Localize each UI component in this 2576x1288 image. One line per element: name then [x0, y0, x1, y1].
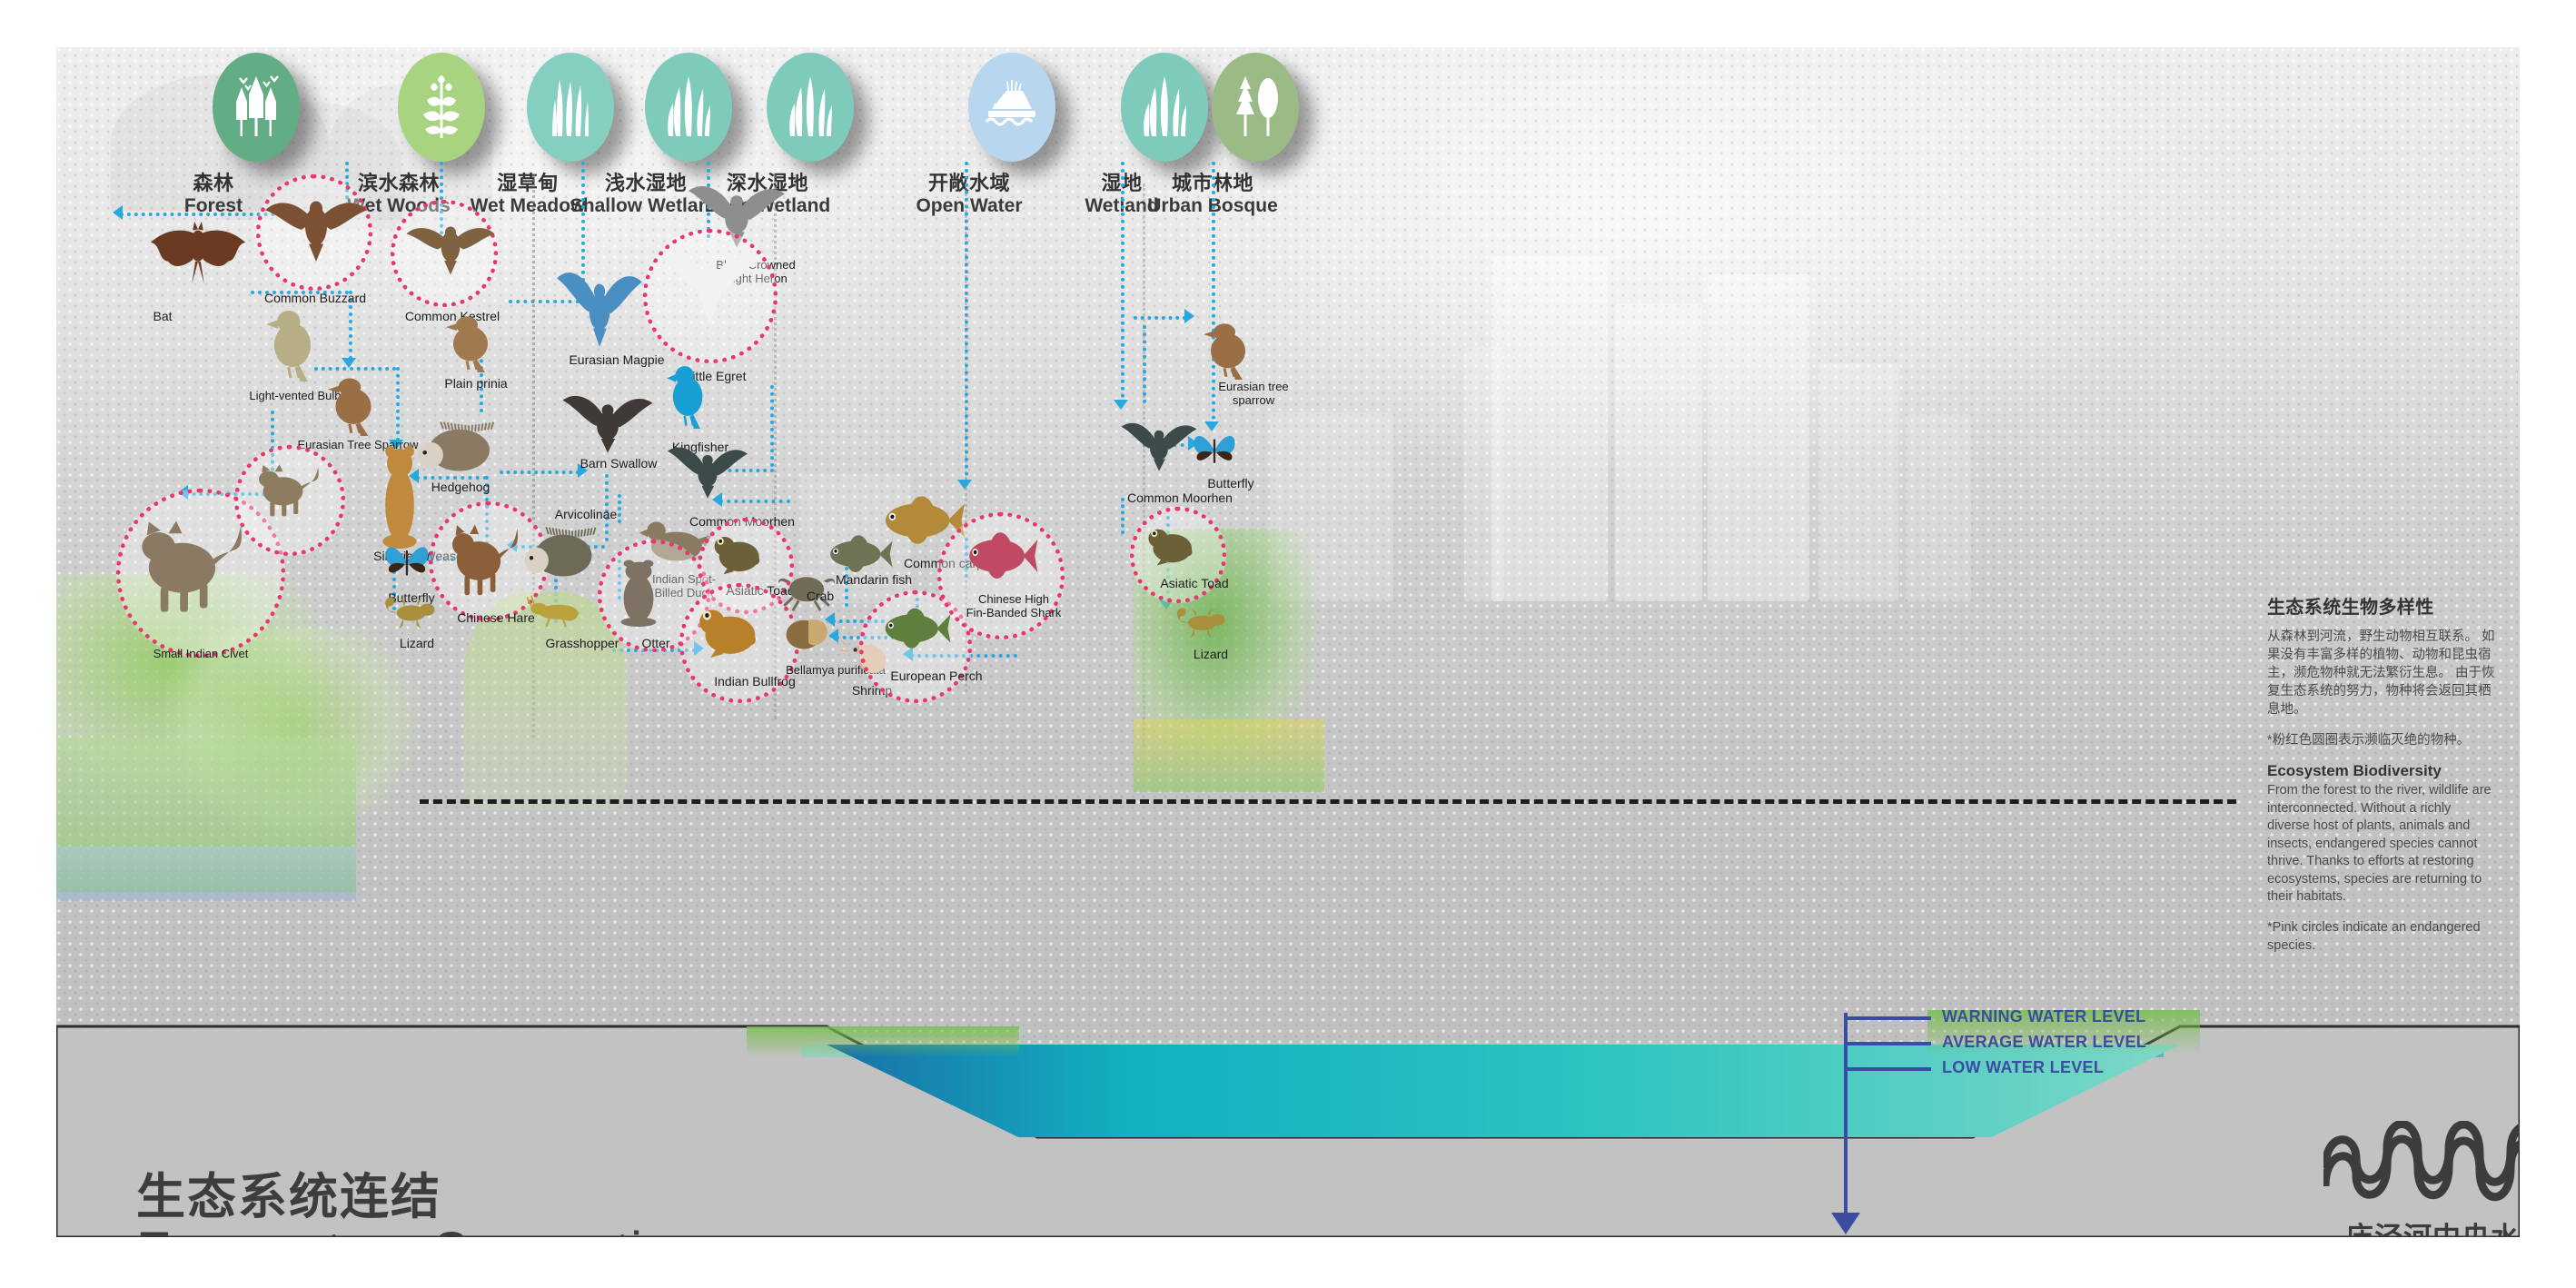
zone-icon-deep-wetland[interactable]	[767, 53, 854, 162]
title-en: Eco-system Connections	[136, 1224, 728, 1237]
water-level-legend: WARNING WATER LEVELAVERAGE WATER LEVELLO…	[1844, 1007, 2144, 1084]
species-label-small-indian-civet: Small Indian Civet	[105, 647, 296, 660]
species-image-chinese-high-fin-banded-shark[interactable]	[959, 529, 1039, 583]
species-label-bat: Bat	[94, 309, 231, 323]
species-image-hedgehog[interactable]	[416, 421, 496, 474]
species-image-bat[interactable]	[145, 220, 251, 298]
cn-body: 从森林到河流，野生动物相互联系。 如果没有丰富多样的植物、动物和昆虫宿主，濒危物…	[2267, 628, 2496, 718]
water-level-bar	[1844, 1016, 1931, 1020]
species-image-grasshopper[interactable]	[527, 594, 587, 627]
species-image-eurasian-magpie[interactable]	[552, 256, 647, 349]
water-level-row: LOW WATER LEVEL	[1844, 1058, 2144, 1084]
zone-icon-wet-woods[interactable]	[398, 53, 485, 162]
species-image-small-indian-civet-inset[interactable]	[249, 460, 325, 520]
species-image-little-egret[interactable]	[656, 236, 763, 325]
water-level-bar	[1844, 1067, 1931, 1071]
forest-trees-icon	[229, 71, 283, 144]
species-image-asiatic-toad-center[interactable]	[708, 529, 768, 576]
species-label-eurasian-tree-sparrow-right: Eurasian tree sparrow	[1190, 380, 1317, 407]
species-image-chinese-hare[interactable]	[441, 518, 525, 599]
species-image-butterfly-left[interactable]	[381, 538, 432, 585]
en-note: *Pink circles indicate an endangered spe…	[2267, 919, 2496, 955]
wet-woods-plant-icon	[414, 69, 469, 146]
species-image-bellamya-purificata[interactable]	[783, 612, 834, 652]
species-image-plain-prinia[interactable]	[440, 311, 503, 372]
species-image-light-vented-bulbul[interactable]	[260, 303, 327, 381]
species-image-butterfly-right[interactable]	[1190, 427, 1239, 472]
wave-logo-icon	[2323, 1121, 2520, 1208]
species-image-common-buzzard[interactable]	[262, 183, 371, 263]
species-image-common-moorhen-right[interactable]	[1117, 412, 1201, 472]
en-heading: Ecosystem Biodiversity	[2267, 762, 2496, 780]
species-image-asiatic-toad-right[interactable]	[1143, 521, 1201, 567]
species-label-chinese-high-fin-banded-shark: Chinese High Fin-Banded Shark	[932, 592, 1095, 619]
species-image-small-indian-civet[interactable]	[125, 512, 253, 618]
title-cn: 生态系统连结	[136, 1172, 728, 1224]
species-image-common-kestrel[interactable]	[403, 213, 498, 276]
species-image-lizard-left[interactable]	[378, 594, 438, 630]
water-level-arrow-icon	[1831, 1213, 1860, 1234]
water-level-row: WARNING WATER LEVEL	[1844, 1007, 2144, 1033]
species-image-indian-bullfrog[interactable]	[692, 599, 767, 659]
species-image-common-moorhen-center[interactable]	[663, 436, 752, 500]
zone-icon-forest[interactable]	[213, 53, 300, 162]
miaojing-logo: 庙泾河中央水廊 MIAOJING CENTRAL WATER CORRIDOR	[2320, 1121, 2520, 1237]
zone-icon-open-water[interactable]	[968, 53, 1055, 162]
water-level-bar	[1844, 1042, 1931, 1045]
zone-icon-urban-bosque[interactable]	[1212, 53, 1299, 162]
zone-icon-wet-meadow[interactable]	[527, 53, 614, 162]
species-label-asiatic-toad-right: Asiatic Toad	[1126, 576, 1263, 590]
species-image-kingfisher[interactable]	[661, 360, 716, 429]
wetland-reed-icon	[1137, 73, 1192, 143]
species-image-arvicolinae[interactable]	[523, 527, 598, 580]
zone-icon-wetland[interactable]	[1121, 53, 1208, 162]
urban-bosque-trees-icon	[1227, 71, 1283, 144]
water-level-label: AVERAGE WATER LEVEL	[1942, 1033, 2146, 1052]
water-level-label: LOW WATER LEVEL	[1942, 1058, 2104, 1077]
logo-cn: 庙泾河中央水廊	[2320, 1214, 2520, 1237]
species-image-otter[interactable]	[612, 556, 665, 627]
zone-icon-shallow-wetland[interactable]	[645, 53, 732, 162]
cn-note: *粉红色圆圈表示濒临灭绝的物种。	[2267, 731, 2496, 749]
poster-title: 生态系统连结 Eco-system Connections	[136, 1172, 728, 1237]
en-body: From the forest to the river, wildlife a…	[2267, 782, 2496, 907]
wet-meadow-grass-icon	[545, 73, 596, 143]
species-label-butterfly-right: Butterfly	[1181, 476, 1281, 490]
species-label-crab: Crab	[770, 589, 870, 603]
water-level-row: AVERAGE WATER LEVEL	[1844, 1033, 2144, 1058]
species-image-lizard-right[interactable]	[1170, 605, 1228, 639]
species-label-plain-prinia: Plain prinia	[394, 376, 558, 391]
species-label-lizard-left: Lizard	[367, 636, 467, 650]
infographic-canvas: 森林Forest滨水森林Wet Woods湿草甸Wet Meadow浅水湿地Sh…	[56, 47, 2520, 1237]
species-label-lizard-right: Lizard	[1161, 647, 1261, 661]
species-label-common-moorhen-right: Common Moorhen	[1094, 490, 1266, 505]
shallow-wetland-reed-icon	[661, 73, 716, 143]
biodiversity-text-panel: 生态系统生物多样性 从森林到河流，野生动物相互联系。 如果没有丰富多样的植物、动…	[2267, 592, 2496, 967]
open-water-boat-icon	[983, 78, 1041, 137]
species-label-european-perch: European Perch	[859, 669, 1014, 683]
species-image-eurasian-tree-sparrow[interactable]	[322, 372, 387, 436]
poster-root: 森林Forest滨水森林Wet Woods湿草甸Wet Meadow浅水湿地Sh…	[0, 0, 2576, 1288]
species-label-arvicolinae: Arvicolinae	[518, 507, 654, 521]
cn-heading: 生态系统生物多样性	[2267, 592, 2496, 619]
species-image-siberian-weasel[interactable]	[374, 440, 425, 549]
species-image-eurasian-tree-sparrow-right[interactable]	[1197, 318, 1261, 380]
deep-wetland-reed-icon	[783, 73, 837, 143]
water-level-label: WARNING WATER LEVEL	[1942, 1007, 2145, 1026]
species-label-mandarin-fish: Mandarin fish	[801, 572, 946, 587]
